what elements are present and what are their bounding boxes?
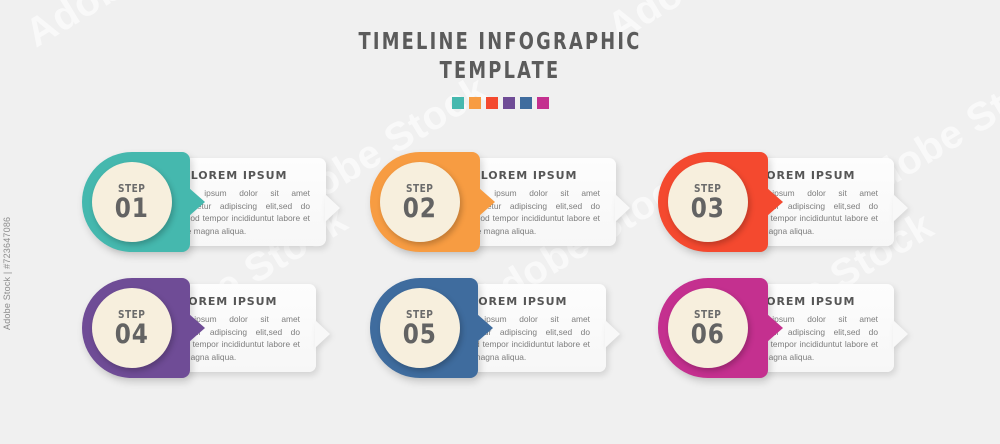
step-color-blob: STEP02 [370,152,480,252]
step-number-value: 05 [403,321,437,348]
page-title-line-2: TEMPLATE [70,57,930,86]
step-number-value: 03 [691,195,725,222]
swatch-orange [469,97,481,109]
panel-tail-arrow-icon [605,320,620,348]
stock-credit-label: Adobe Stock | #723647086 [2,217,12,330]
panel-tail-arrow-icon [315,320,330,348]
step-color-blob: STEP03 [658,152,768,252]
page-title-line-1: TIMELINE INFOGRAPHIC [70,28,930,57]
timeline-row-bottom: LOREM IPSUMLorem ipsum dolor sit amet co… [0,278,1000,388]
stock-watermark: Adobe Stock [352,0,589,5]
panel-tail-arrow-icon [893,320,908,348]
swatch-purple [503,97,515,109]
step-number-badge[interactable]: STEP05 [380,288,460,368]
blob-tail-arrow-icon [189,314,205,342]
step-number-badge[interactable]: STEP06 [668,288,748,368]
page-header: TIMELINE INFOGRAPHIC TEMPLATE [0,28,1000,109]
step-color-blob: STEP01 [82,152,190,252]
step-number-value: 02 [403,195,437,222]
step-number-badge[interactable]: STEP04 [92,288,172,368]
swatch-magenta [537,97,549,109]
step-number-badge[interactable]: STEP02 [380,162,460,242]
step-color-blob: STEP05 [370,278,478,378]
step-number-value: 04 [115,321,149,348]
panel-tail-arrow-icon [325,194,340,222]
panel-tail-arrow-icon [893,194,908,222]
step-color-blob: STEP06 [658,278,768,378]
panel-tail-arrow-icon [615,194,630,222]
blob-tail-arrow-icon [479,188,495,216]
swatch-red [486,97,498,109]
blob-tail-arrow-icon [767,188,783,216]
blob-tail-arrow-icon [477,314,493,342]
color-swatch-strip [0,97,1000,109]
swatch-blue [520,97,532,109]
step-color-blob: STEP04 [82,278,190,378]
swatch-teal [452,97,464,109]
timeline-row-top: LOREM IPSUMLorem ipsum dolor sit amet co… [0,152,1000,262]
step-number-badge[interactable]: STEP01 [92,162,172,242]
step-number-value: 01 [115,195,149,222]
blob-tail-arrow-icon [767,314,783,342]
step-number-badge[interactable]: STEP03 [668,162,748,242]
blob-tail-arrow-icon [189,188,205,216]
step-number-value: 06 [691,321,725,348]
